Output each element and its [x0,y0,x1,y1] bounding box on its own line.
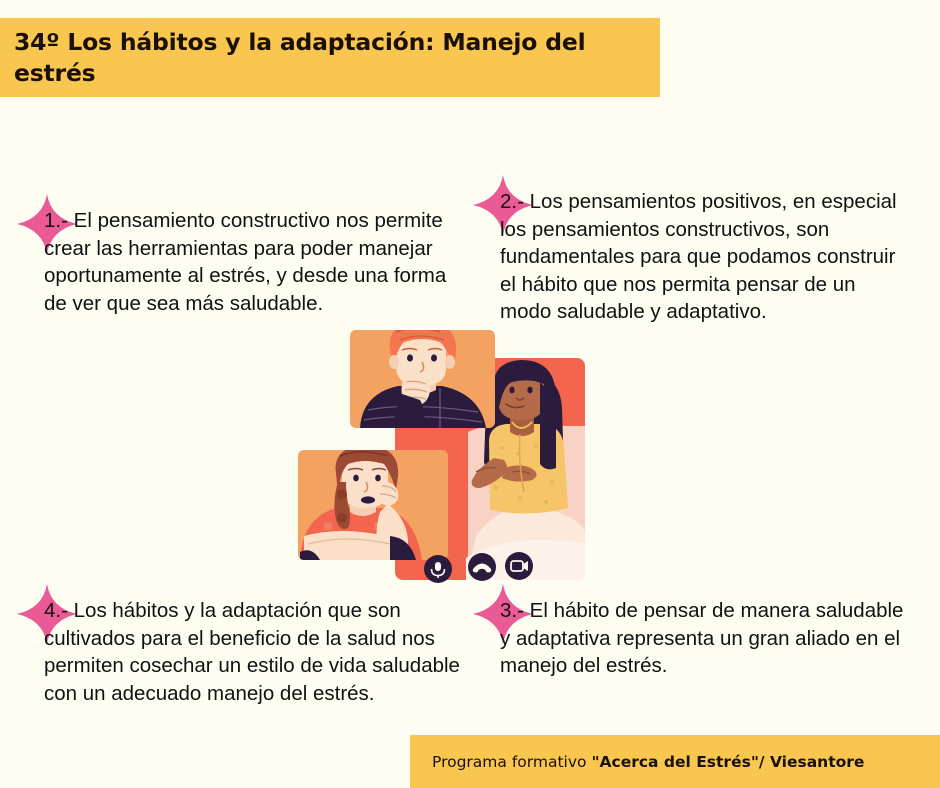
point-3-number: 3.- [500,599,524,622]
hangup-button[interactable] [468,553,496,581]
infographic-slide: 34º Los hábitos y la adaptación: Manejo … [0,0,940,788]
point-2-number: 2.- [500,190,524,213]
microphone-button[interactable] [424,555,452,583]
point-4: 4.- Los hábitos y la adaptación que son … [44,597,464,707]
point-3-text: El hábito de pensar de manera saludable … [500,599,903,677]
participant-tile-left [298,446,448,560]
point-4-text: Los hábitos y la adaptación que son cult… [44,599,460,705]
point-4-number: 4.- [44,599,68,622]
video-camera-button[interactable] [505,552,533,580]
video-call-illustration [290,322,620,600]
point-1-number: 1.- [44,209,68,232]
point-1: 1.- El pensamiento constructivo nos perm… [44,207,456,317]
point-3: 3.- El hábito de pensar de manera saluda… [500,597,912,680]
title-band: 34º Los hábitos y la adaptación: Manejo … [0,18,660,97]
point-2-text: Los pensamientos positivos, en especial … [500,190,897,323]
participant-tile-top [350,322,495,428]
footer-prefix: Programa formativo [432,753,591,771]
footer-credit: Programa formativo "Acerca del Estrés"/ … [432,753,864,771]
footer-highlight: "Acerca del Estrés"/ Viesantore [591,753,864,771]
footer-band: Programa formativo "Acerca del Estrés"/ … [410,735,940,788]
page-title: 34º Los hábitos y la adaptación: Manejo … [14,27,646,89]
point-1-text: El pensamiento constructivo nos permite … [44,209,446,315]
point-2: 2.- Los pensamientos positivos, en espec… [500,188,912,326]
call-controls [424,552,533,583]
